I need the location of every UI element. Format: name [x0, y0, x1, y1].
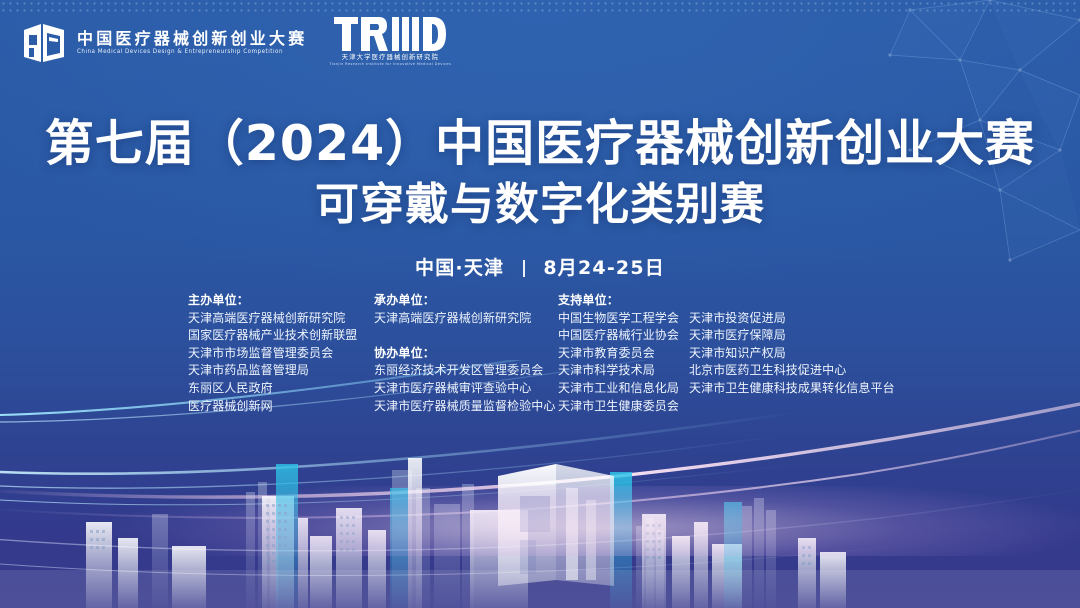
host-item: 东丽区人民政府 — [188, 380, 374, 398]
header-logos: 中国医疗器械创新创业大赛 China Medical Devices Desig… — [22, 19, 451, 67]
host-item: 天津市药品监督管理局 — [188, 362, 374, 380]
hero-meta: 中国·天津 8月24-25日 — [0, 253, 1080, 280]
support-item: 天津市科学技术局 — [558, 362, 689, 380]
host-item: 天津高端医疗器械创新研究院 — [188, 310, 374, 328]
hero-location: 中国·天津 — [415, 257, 504, 279]
host-column: 主办单位： 天津高端医疗器械创新研究院 国家医疗器械产业技术创新联盟 天津市市场… — [188, 292, 374, 415]
triid-name-en: Tianjin Research Institute for Innovativ… — [329, 63, 451, 67]
open-door-logo-icon — [22, 22, 66, 64]
triid-name-cn: 天津大学医疗器械创新研究院 — [342, 54, 439, 60]
column-spacer — [689, 292, 895, 310]
hero-dates: 8月24-25日 — [543, 257, 665, 279]
triid-logo[interactable]: 天津大学医疗器械创新研究院 Tianjin Research Institute… — [329, 17, 451, 67]
skyline-door-landmark — [498, 464, 614, 586]
support-item: 天津市知识产权局 — [689, 345, 895, 363]
co-organizer-item: 天津市医疗器械审评查验中心 — [374, 380, 558, 398]
poster-canvas: 中国医疗器械创新创业大赛 China Medical Devices Desig… — [0, 0, 1080, 608]
hero-title-line1: 第七届（2024）中国医疗器械创新创业大赛 — [0, 116, 1080, 173]
support-item: 中国医疗器械行业协会 — [558, 327, 689, 345]
host-title: 主办单位： — [188, 292, 374, 310]
co-organizer-title: 协办单位： — [374, 345, 558, 363]
organizations-block: 主办单位： 天津高端医疗器械创新研究院 国家医疗器械产业技术创新联盟 天津市市场… — [188, 292, 948, 415]
triid-wordmark-icon — [334, 17, 446, 51]
support-item: 天津市工业和信息化局 — [558, 380, 689, 398]
cmdc-name-en: China Medical Devices Design & Entrepren… — [77, 49, 307, 55]
support-item: 中国生物医学工程学会 — [558, 310, 689, 328]
support-item: 天津市教育委员会 — [558, 345, 689, 363]
support-subcolumn-a: 支持单位： 中国生物医学工程学会 中国医疗器械行业协会 天津市教育委员会 天津市… — [558, 292, 689, 415]
co-organizer-item: 天津市医疗器械质量监督检验中心 — [374, 398, 558, 416]
support-item: 天津市投资促进局 — [689, 310, 895, 328]
organizer-item: 天津高端医疗器械创新研究院 — [374, 310, 558, 328]
cmdc-name-cn: 中国医疗器械创新创业大赛 — [77, 31, 307, 47]
column-spacer — [374, 327, 558, 345]
support-title: 支持单位： — [558, 292, 689, 310]
meta-divider — [523, 260, 525, 277]
organizer-title: 承办单位： — [374, 292, 558, 310]
support-subcolumn-b: 天津市投资促进局 天津市医疗保障局 天津市知识产权局 北京市医药卫生科技促进中心… — [689, 292, 895, 415]
support-item: 北京市医药卫生科技促进中心 — [689, 362, 895, 380]
hero-section: 第七届（2024）中国医疗器械创新创业大赛 可穿戴与数字化类别赛 中国·天津 8… — [0, 116, 1080, 280]
support-item: 天津市医疗保障局 — [689, 327, 895, 345]
hero-title-line2: 可穿戴与数字化类别赛 — [0, 179, 1080, 231]
support-column: 支持单位： 中国生物医学工程学会 中国医疗器械行业协会 天津市教育委员会 天津市… — [558, 292, 895, 415]
cmdc-logo[interactable]: 中国医疗器械创新创业大赛 China Medical Devices Desig… — [22, 22, 307, 64]
city-skyline — [0, 418, 1080, 608]
host-item: 医疗器械创新网 — [188, 398, 374, 416]
organizer-column: 承办单位： 天津高端医疗器械创新研究院 协办单位： 东丽经济技术开发区管理委员会… — [374, 292, 558, 415]
host-item: 天津市市场监督管理委员会 — [188, 345, 374, 363]
co-organizer-item: 东丽经济技术开发区管理委员会 — [374, 362, 558, 380]
support-item: 天津市卫生健康科技成果转化信息平台 — [689, 380, 895, 398]
host-item: 国家医疗器械产业技术创新联盟 — [188, 327, 374, 345]
support-item: 天津市卫生健康委员会 — [558, 398, 689, 416]
